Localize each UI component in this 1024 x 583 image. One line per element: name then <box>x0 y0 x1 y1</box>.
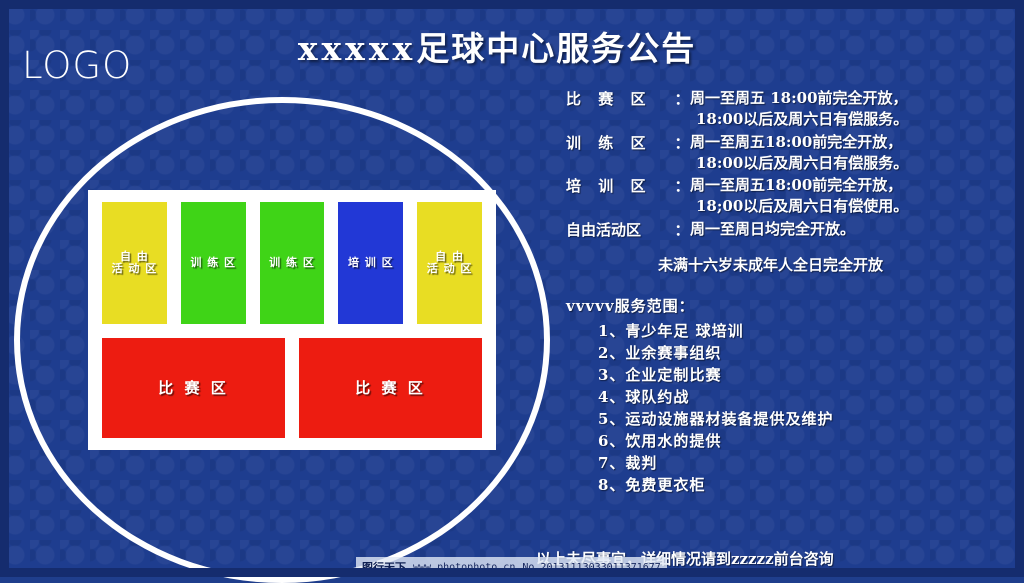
logo: LOGO <box>22 44 132 87</box>
zone-label: 训 练 区 <box>190 257 236 269</box>
schedule-line-2: 18:00以后及周六日有偿服务。 <box>690 153 1018 174</box>
zone-free-activity-left: 自 由 活 动 区 <box>102 202 167 324</box>
schedule-zone-name: 比 赛 区 <box>566 88 674 109</box>
schedule-zone-name: 培 训 区 <box>566 175 674 196</box>
service-scope-list: 1、青少年足 球培训 2、业余赛事组织 3、企业定制比赛 4、球队约战 5、运动… <box>566 322 1018 496</box>
facility-layout-diagram: 自 由 活 动 区 训 练 区 训 练 区 培 训 区 <box>88 190 496 450</box>
page-title: xxxxx足球中心服务公告 <box>232 22 762 70</box>
schedule-zone-hours: 周一至周五 18:00前完全开放， 18:00以后及周六日有偿服务。 <box>690 88 1018 131</box>
schedule-line-2: 18:00以后及周六日有偿服务。 <box>690 109 1018 130</box>
list-item: 1、青少年足 球培训 <box>598 322 1018 342</box>
watermark-site-name: 图行天下 <box>362 559 406 575</box>
zone-coaching: 培 训 区 <box>338 202 403 324</box>
schedule-zone-hours: 周一至周五18:00前完全开放， 18;00以后及周六日有偿使用。 <box>690 175 1018 218</box>
list-item: 8、免费更衣柜 <box>598 476 1018 496</box>
list-item: 3、企业定制比赛 <box>598 366 1018 386</box>
schedule-zone-name: 训 练 区 <box>566 132 674 153</box>
schedule-line-1: 周一至周五18:00前完全开放， <box>690 176 902 194</box>
zone-free-activity-right: 自 由 活 动 区 <box>417 202 482 324</box>
poster-canvas: LOGO xxxxx足球中心服务公告 自 由 活 动 区 训 练 区 训 练 区 <box>0 0 1024 577</box>
minor-notice: 未满十六岁未成年人全日完全开放 <box>658 254 1018 275</box>
schedule-colon: ： <box>674 219 690 240</box>
schedule-zone-hours: 周一至周日均完全开放。 <box>690 219 1018 240</box>
page-title-latin: xxxxx <box>298 29 416 68</box>
watermark-number: No.20131113033011371677 <box>522 562 660 573</box>
schedule-colon: ： <box>674 175 690 196</box>
zone-label: 自 由 活 动 区 <box>112 251 158 275</box>
zone-label: 自 由 活 动 区 <box>427 251 473 275</box>
schedule-row-coaching: 培 训 区 ： 周一至周五18:00前完全开放， 18;00以后及周六日有偿使用… <box>566 175 1018 218</box>
schedule-line-1: 周一至周五18:00前完全开放， <box>690 133 902 151</box>
schedule-line-1: 周一至周日均完全开放。 <box>690 220 855 238</box>
page-title-cn: 足球中心服务公告 <box>416 29 696 68</box>
watermark-url: www.photophoto.cn <box>413 562 515 573</box>
layout-bottom-row: 比 赛 区 比 赛 区 <box>102 338 482 438</box>
schedule-row-free-activity: 自由活动区 ： 周一至周日均完全开放。 <box>566 219 1018 240</box>
schedule-colon: ： <box>674 132 690 153</box>
zone-match-1: 比 赛 区 <box>102 338 285 438</box>
watermark: 图行天下 www.photophoto.cn No.20131113033011… <box>356 557 667 577</box>
schedule-zone-name: 自由活动区 <box>566 219 674 240</box>
list-item: 7、裁判 <box>598 454 1018 474</box>
schedule-row-training: 训 练 区 ： 周一至周五18:00前完全开放， 18:00以后及周六日有偿服务… <box>566 132 1018 175</box>
list-item: 6、饮用水的提供 <box>598 432 1018 452</box>
zone-label: 培 训 区 <box>348 257 394 269</box>
zone-label: 训 练 区 <box>269 257 315 269</box>
list-item: 2、业余赛事组织 <box>598 344 1018 364</box>
list-item: 4、球队约战 <box>598 388 1018 408</box>
schedule-colon: ： <box>674 88 690 109</box>
service-scope-title: vvvvv服务范围： <box>566 295 1018 316</box>
zone-match-2: 比 赛 区 <box>299 338 482 438</box>
schedule-line-1: 周一至周五 18:00前完全开放， <box>690 89 908 107</box>
zone-training-1: 训 练 区 <box>181 202 246 324</box>
schedule-zone-hours: 周一至周五18:00前完全开放， 18:00以后及周六日有偿服务。 <box>690 132 1018 175</box>
schedule-row-match: 比 赛 区 ： 周一至周五 18:00前完全开放， 18:00以后及周六日有偿服… <box>566 88 1018 131</box>
zone-label: 比 赛 区 <box>355 380 425 397</box>
layout-top-row: 自 由 活 动 区 训 练 区 训 练 区 培 训 区 <box>102 202 482 324</box>
zone-label: 比 赛 区 <box>158 380 228 397</box>
schedule-line-2: 18;00以后及周六日有偿使用。 <box>690 196 1018 217</box>
list-item: 5、运动设施器材装备提供及维护 <box>598 410 1018 430</box>
information-panel: 比 赛 区 ： 周一至周五 18:00前完全开放， 18:00以后及周六日有偿服… <box>566 88 1018 498</box>
zone-training-2: 训 练 区 <box>260 202 325 324</box>
